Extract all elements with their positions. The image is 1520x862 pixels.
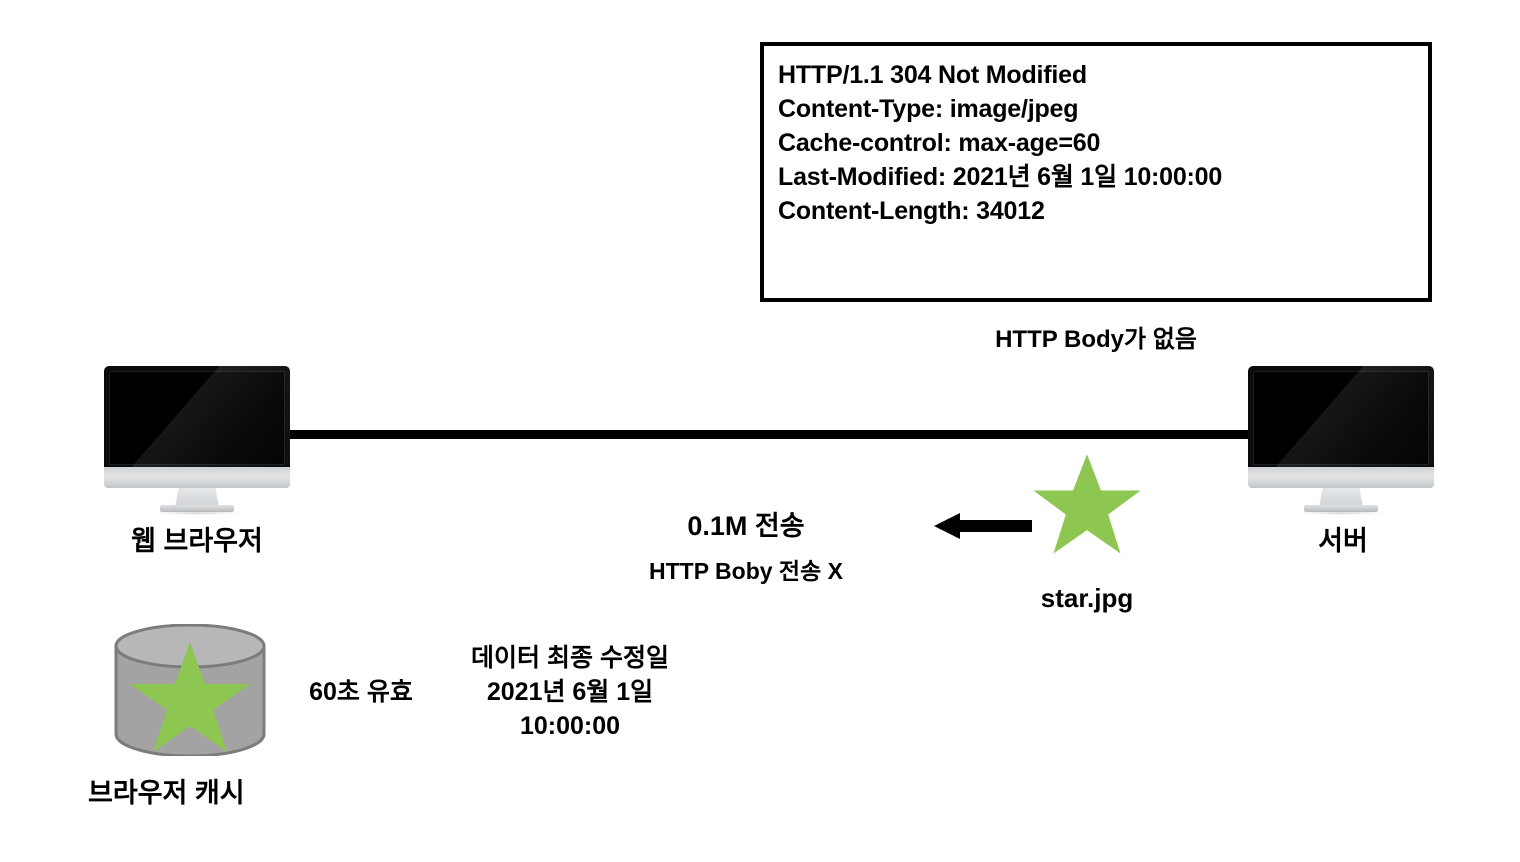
- monitor-stand-shadow: [1298, 511, 1384, 515]
- last-modified-time: 10:00:00: [440, 709, 700, 743]
- monitor-chin: [104, 467, 290, 488]
- monitor-stand-shadow: [154, 511, 240, 515]
- browser-node-label: 웹 브라우저: [44, 519, 350, 558]
- monitor-icon-server: [1248, 366, 1434, 500]
- http-response-line-content-type: Content-Type: image/jpeg: [778, 92, 1420, 126]
- star-icon-file: [1028, 452, 1146, 558]
- last-modified-title: 데이터 최종 수정일: [440, 641, 700, 675]
- http-response-line-content-length: Content-Length: 34012: [778, 194, 1420, 228]
- monitor-screen: [109, 371, 285, 465]
- arrow-left-icon: [934, 512, 1032, 540]
- http-response-line-last-modified: Last-Modified: 2021년 6월 1일 10:00:00: [778, 160, 1420, 194]
- monitor-icon-browser: [104, 366, 290, 500]
- diagram-canvas: HTTP/1.1 304 Not Modified Content-Type: …: [0, 0, 1520, 862]
- cache-ttl-label: 60초 유효: [276, 672, 446, 708]
- http-response-line-status: HTTP/1.1 304 Not Modified: [778, 58, 1420, 92]
- last-modified-annotation: 데이터 최종 수정일 2021년 6월 1일 10:00:00: [440, 641, 700, 743]
- http-response-lines: HTTP/1.1 304 Not Modified Content-Type: …: [778, 58, 1420, 228]
- database-cylinder-icon-cache: [110, 624, 270, 756]
- no-http-body-caption: HTTP Body가 없음: [760, 319, 1432, 354]
- monitor-bezel: [1248, 366, 1434, 467]
- monitor-bezel: [104, 366, 290, 467]
- file-name-label: star.jpg: [977, 583, 1197, 614]
- monitor-chin: [1248, 467, 1434, 488]
- transfer-no-body-label: HTTP Boby 전송 X: [576, 552, 916, 586]
- network-link-line: [268, 430, 1266, 439]
- browser-cache-label: 브라우저 캐시: [40, 771, 340, 810]
- http-response-line-cache-control: Cache-control: max-age=60: [778, 126, 1420, 160]
- server-node-label: 서버: [1190, 519, 1496, 558]
- monitor-screen: [1253, 371, 1429, 465]
- transfer-size-label: 0.1M 전송: [576, 504, 916, 543]
- http-response-box: HTTP/1.1 304 Not Modified Content-Type: …: [760, 42, 1432, 302]
- last-modified-date: 2021년 6월 1일: [440, 675, 700, 709]
